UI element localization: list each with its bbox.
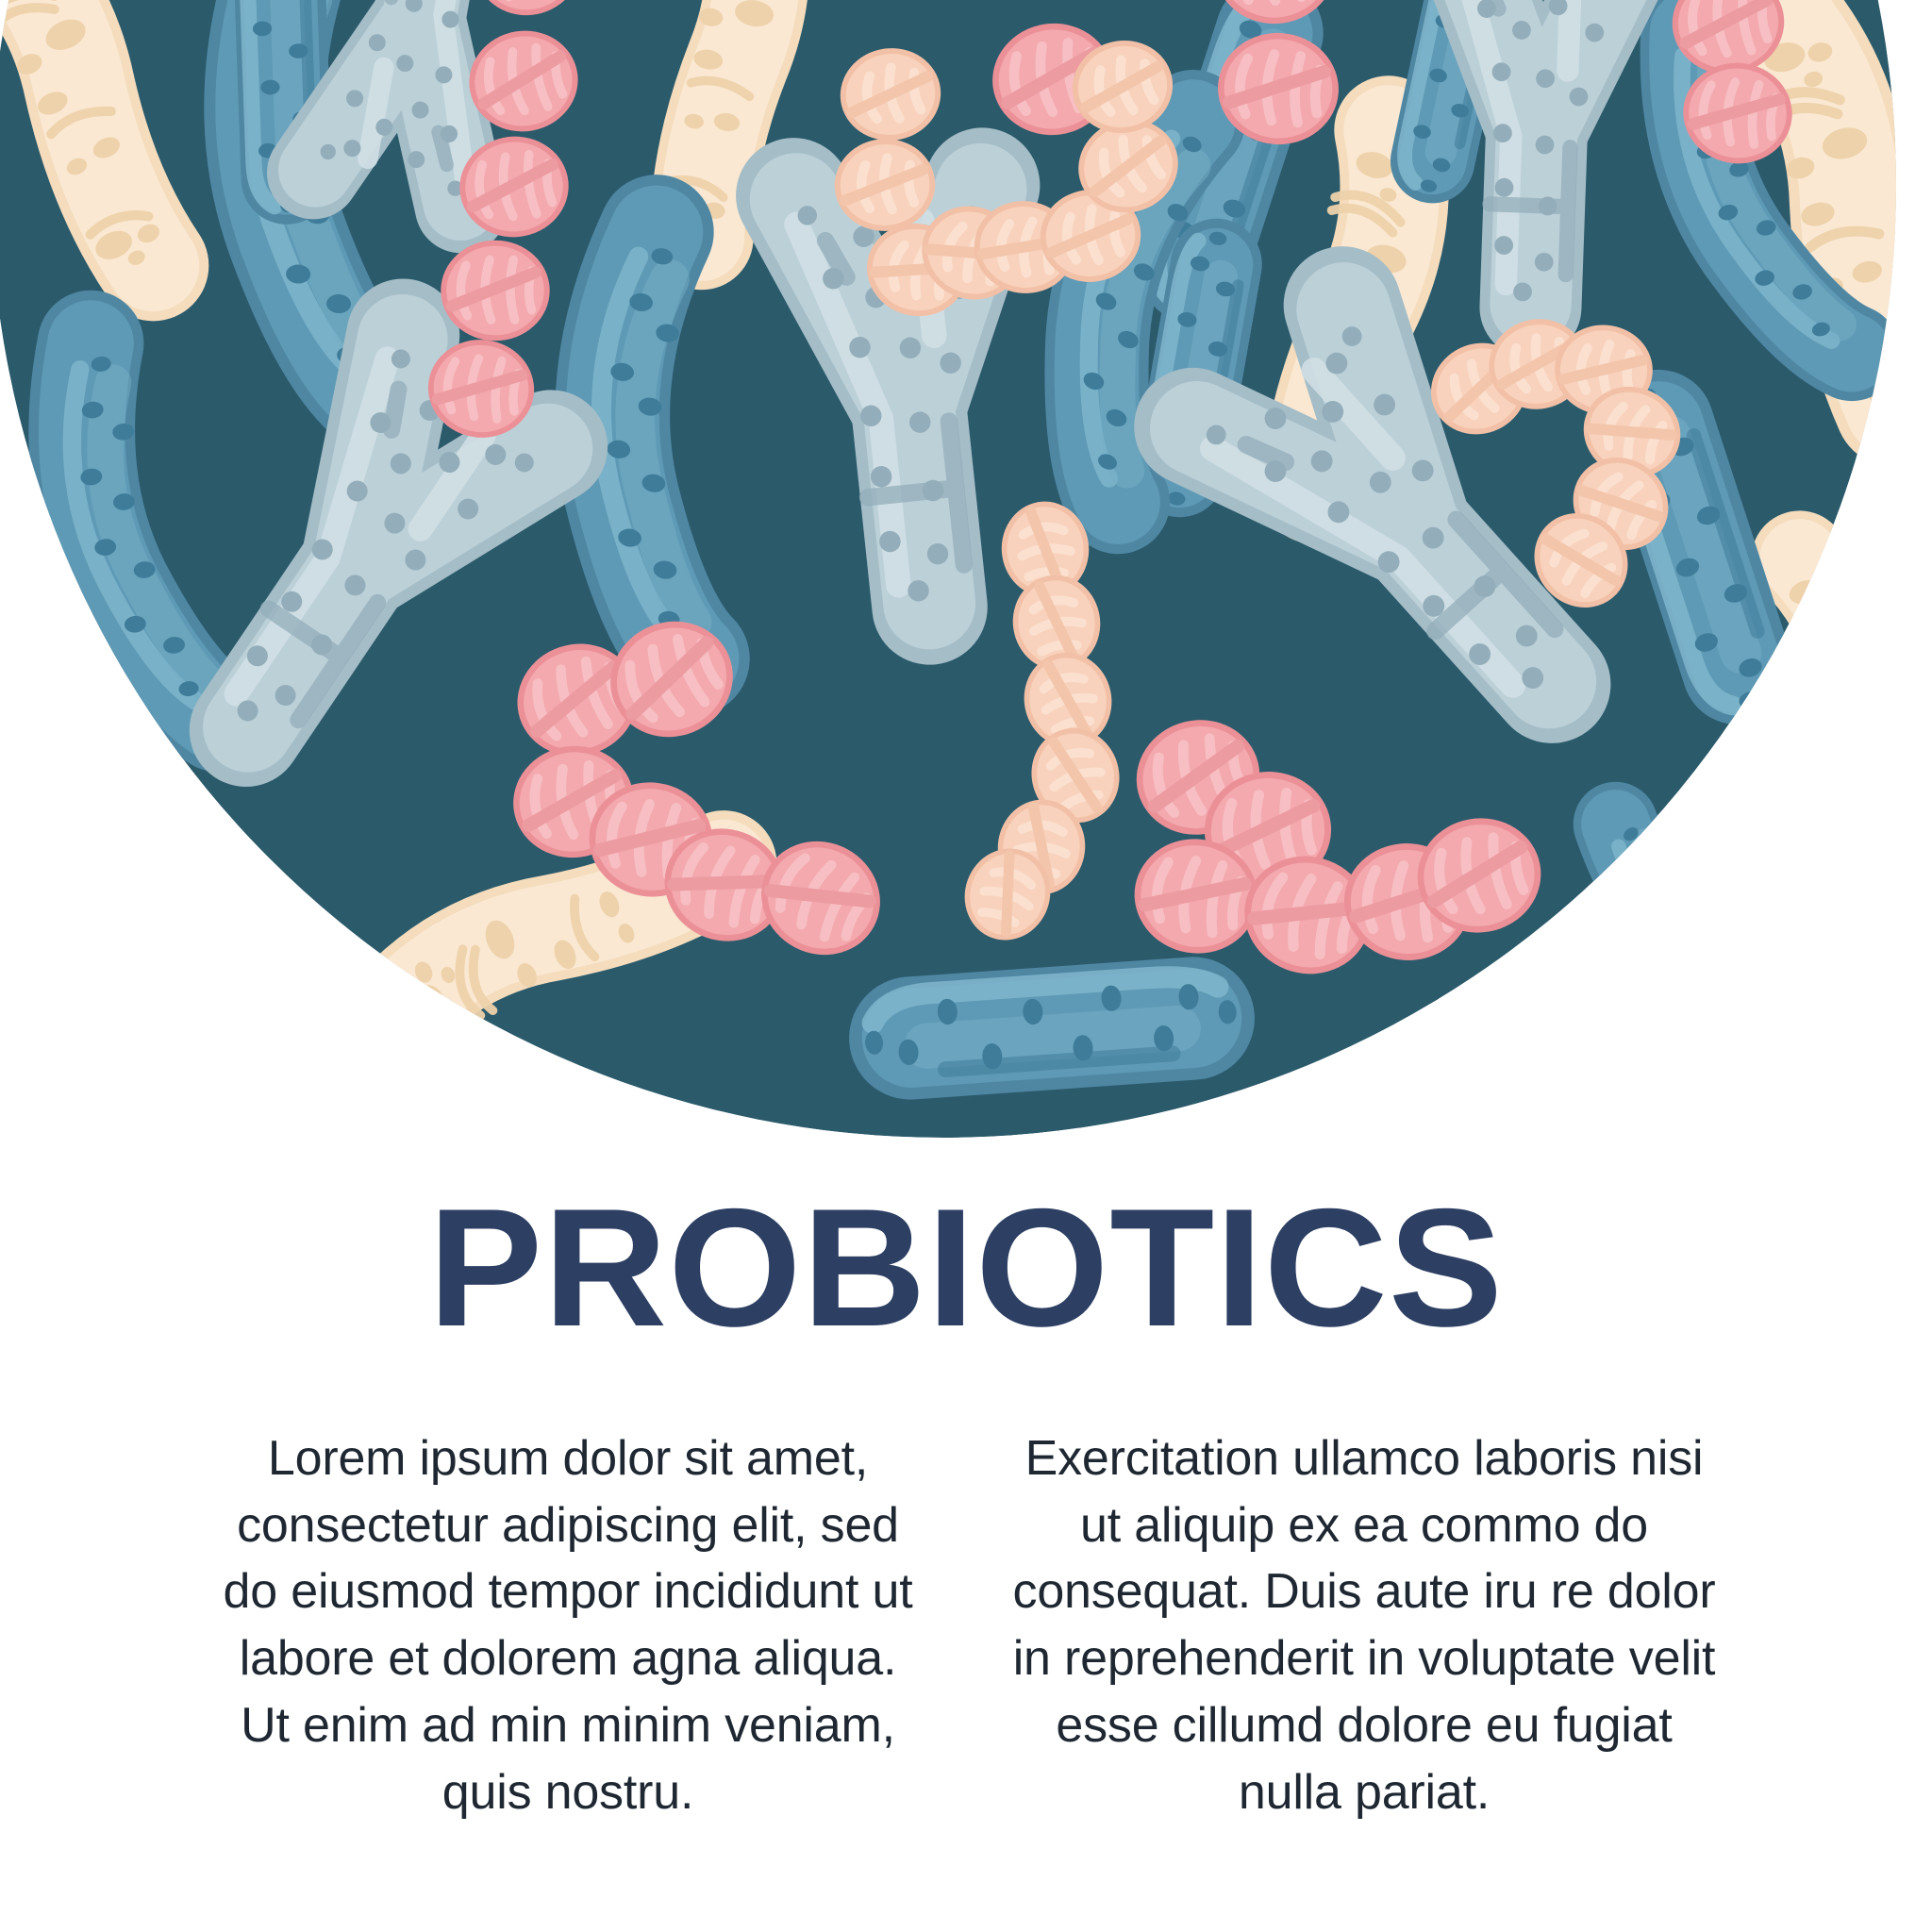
text-block: PROBIOTICS Lorem ipsum dolor sit amet, c… — [0, 1184, 1932, 1825]
body-text-left: Lorem ipsum dolor sit amet, consectetur … — [215, 1425, 921, 1825]
body-text-right: Exercitation ullamco laboris nisi ut ali… — [1011, 1425, 1717, 1825]
microbiome-illustration — [0, 0, 1932, 1160]
body-column-right: Exercitation ullamco laboris nisi ut ali… — [1011, 1425, 1717, 1825]
page-title: PROBIOTICS — [0, 1184, 1932, 1352]
body-columns: Lorem ipsum dolor sit amet, consectetur … — [0, 1425, 1932, 1825]
probiotics-poster: PROBIOTICS Lorem ipsum dolor sit amet, c… — [0, 0, 1932, 1932]
body-column-left: Lorem ipsum dolor sit amet, consectetur … — [215, 1425, 921, 1825]
